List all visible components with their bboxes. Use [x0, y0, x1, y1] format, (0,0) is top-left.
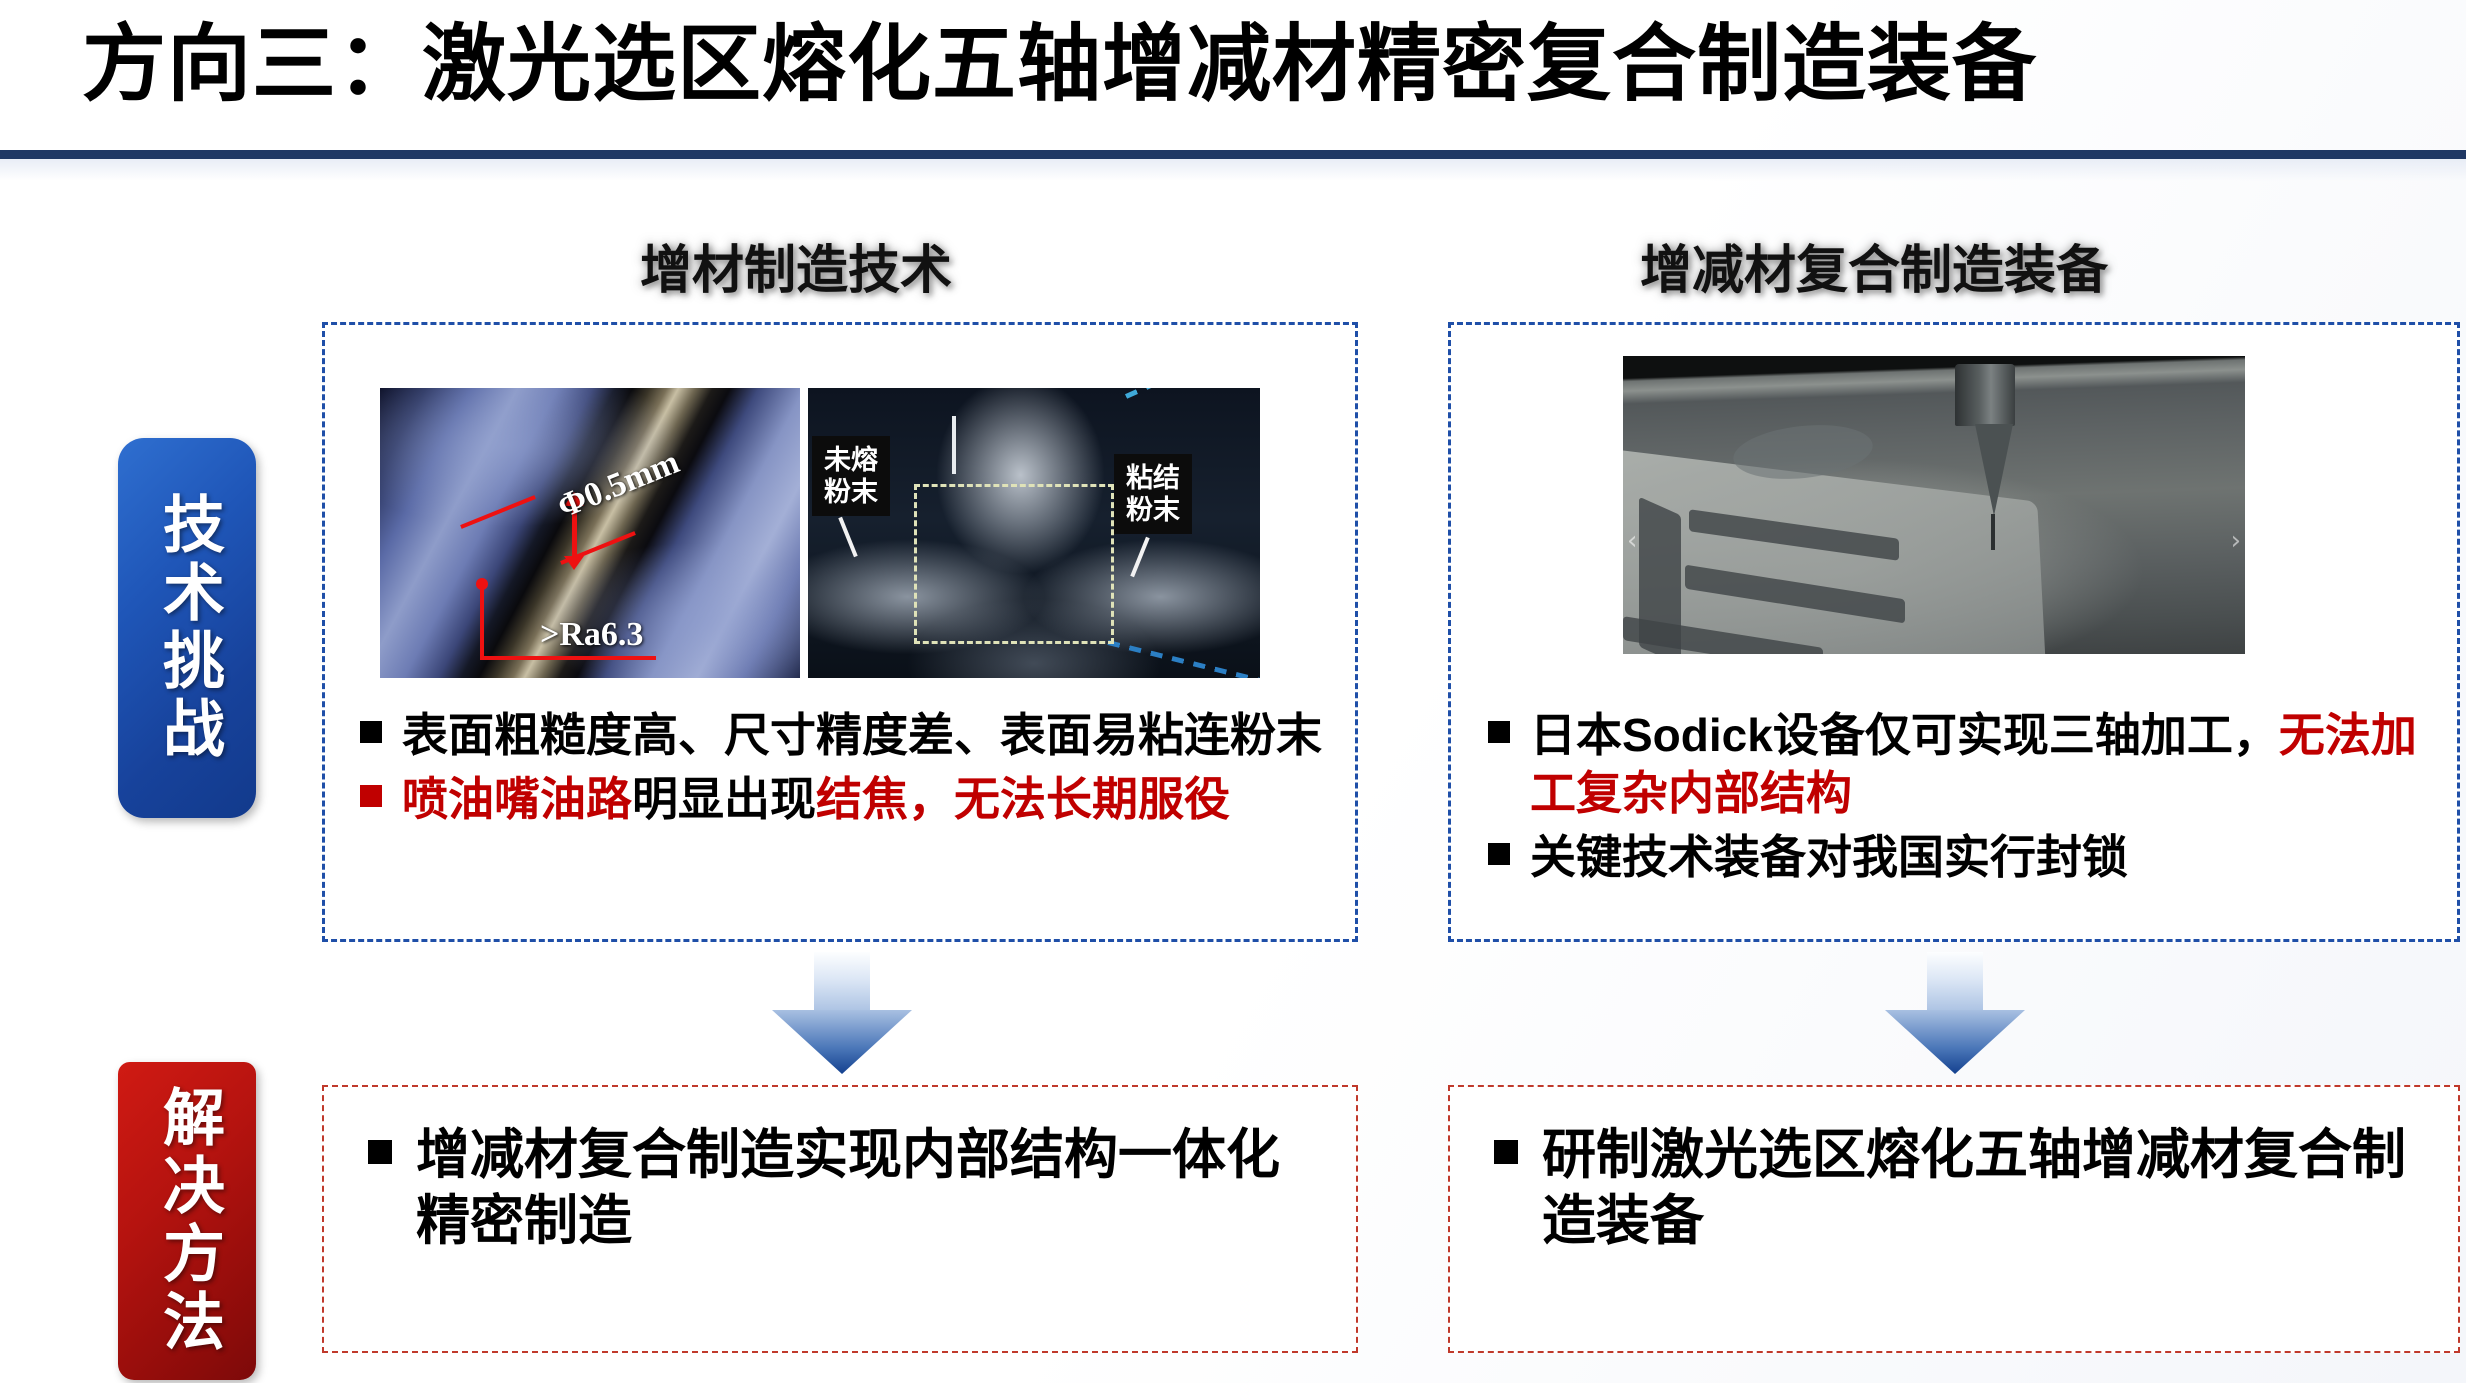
arrow-head [1885, 1010, 2025, 1074]
cnc-milling-render-image: ‹ › [1623, 356, 2245, 654]
ct-region-of-interest [914, 484, 1114, 644]
bullet-marker [360, 785, 382, 807]
ct-scan-image: 未熔 粉末 粘结 粉末 [808, 388, 1260, 678]
column-header-hybrid-equipment: 增减材复合制造装备 [1640, 228, 2108, 303]
bullet-marker [1488, 843, 1510, 865]
solution-item-left: 增减材复合制造实现内部结构一体化精密制造 [368, 1122, 1328, 1254]
roughness-label: >Ra6.3 [540, 616, 643, 654]
column-header-additive: 增材制造技术 [640, 228, 952, 303]
arrow-shaft [814, 952, 870, 1014]
bullet-text-segment: 日本Sodick设备仅可实现三轴加工， [1530, 709, 2279, 761]
ct-label-unfused-powder: 未熔 粉末 [812, 436, 890, 516]
flow-arrow-right [1885, 952, 2025, 1074]
dimension-label-diameter: Φ0.5mm [553, 444, 685, 527]
challenge-bullets-right: 日本Sodick设备仅可实现三轴加工，无法加工复杂内部结构关键技术装备对我国实行… [1488, 706, 2438, 892]
title-bar: 方向三：激光选区熔化五轴增减材精密复合制造装备 [0, 0, 2466, 178]
title-divider [0, 150, 2466, 159]
side-tab-technical-challenge: 技术挑战 [118, 438, 256, 818]
ct-dashed-guide-top [1125, 388, 1260, 399]
bullet-item: 日本Sodick设备仅可实现三轴加工，无法加工复杂内部结构 [1488, 706, 2438, 822]
bullet-text: 日本Sodick设备仅可实现三轴加工，无法加工复杂内部结构 [1530, 706, 2438, 822]
ct-marker-line [952, 416, 956, 474]
bullet-marker [360, 721, 382, 743]
bullet-text-segment: 喷油嘴油路 [402, 773, 632, 825]
bullet-marker [368, 1140, 392, 1164]
carousel-next-icon[interactable]: › [2231, 526, 2241, 556]
arrow-shaft [1927, 952, 1983, 1014]
bullet-text-segment: 表面粗糙度高、尺寸精度差、表面易粘连粉末 [402, 709, 1322, 761]
solution-text-left: 增减材复合制造实现内部结构一体化精密制造 [416, 1122, 1328, 1254]
ct-pointer-right [1130, 537, 1149, 577]
bullet-text-segment: 结焦，无法长期服役 [816, 773, 1230, 825]
challenge-bullets-left: 表面粗糙度高、尺寸精度差、表面易粘连粉末喷油嘴油路明显出现结焦，无法长期服役 [360, 706, 1340, 834]
bullet-item: 喷油嘴油路明显出现结焦，无法长期服役 [360, 770, 1340, 828]
callout-line-horizontal [480, 656, 656, 660]
side-tab-challenge-label: 技术挑战 [150, 492, 224, 764]
bullet-item: 关键技术装备对我国实行封锁 [1488, 828, 2438, 886]
bullet-item: 表面粗糙度高、尺寸精度差、表面易粘连粉末 [360, 706, 1340, 764]
ct-dashed-guide-bottom [1107, 640, 1260, 678]
side-tab-solution-label: 解决方法 [150, 1085, 224, 1357]
surface-micrograph-image: Φ0.5mm >Ra6.3 [380, 388, 800, 678]
page-title: 方向三：激光选区熔化五轴增减材精密复合制造装备 [82, 14, 2037, 114]
machine-tool-tip [1991, 514, 1995, 550]
arrow-head [772, 1010, 912, 1074]
callout-line-vertical [480, 584, 484, 660]
bullet-text: 表面粗糙度高、尺寸精度差、表面易粘连粉末 [402, 706, 1322, 764]
machine-spindle-body [1955, 364, 2015, 426]
solution-item-right: 研制激光选区熔化五轴增减材复合制造装备 [1494, 1122, 2424, 1254]
dimension-tick-top [460, 495, 536, 529]
carousel-prev-icon[interactable]: ‹ [1627, 526, 1637, 556]
ct-pointer-left [838, 517, 857, 557]
solution-text-right: 研制激光选区熔化五轴增减材复合制造装备 [1542, 1122, 2424, 1254]
bullet-marker [1488, 721, 1510, 743]
bullet-text-segment: 明显出现 [632, 773, 816, 825]
bullet-text-segment: 关键技术装备对我国实行封锁 [1530, 831, 2128, 883]
bullet-text: 关键技术装备对我国实行封锁 [1530, 828, 2128, 886]
bullet-text: 喷油嘴油路明显出现结焦，无法长期服役 [402, 770, 1230, 828]
title-divider-shadow [0, 159, 2466, 181]
flow-arrow-left [772, 952, 912, 1074]
machine-tool-cone [1975, 424, 2013, 516]
side-tab-solution-method: 解决方法 [118, 1062, 256, 1380]
ct-label-bonded-powder: 粘结 粉末 [1114, 454, 1192, 534]
bullet-marker [1494, 1140, 1518, 1164]
dimension-arrowhead-down [564, 556, 584, 570]
